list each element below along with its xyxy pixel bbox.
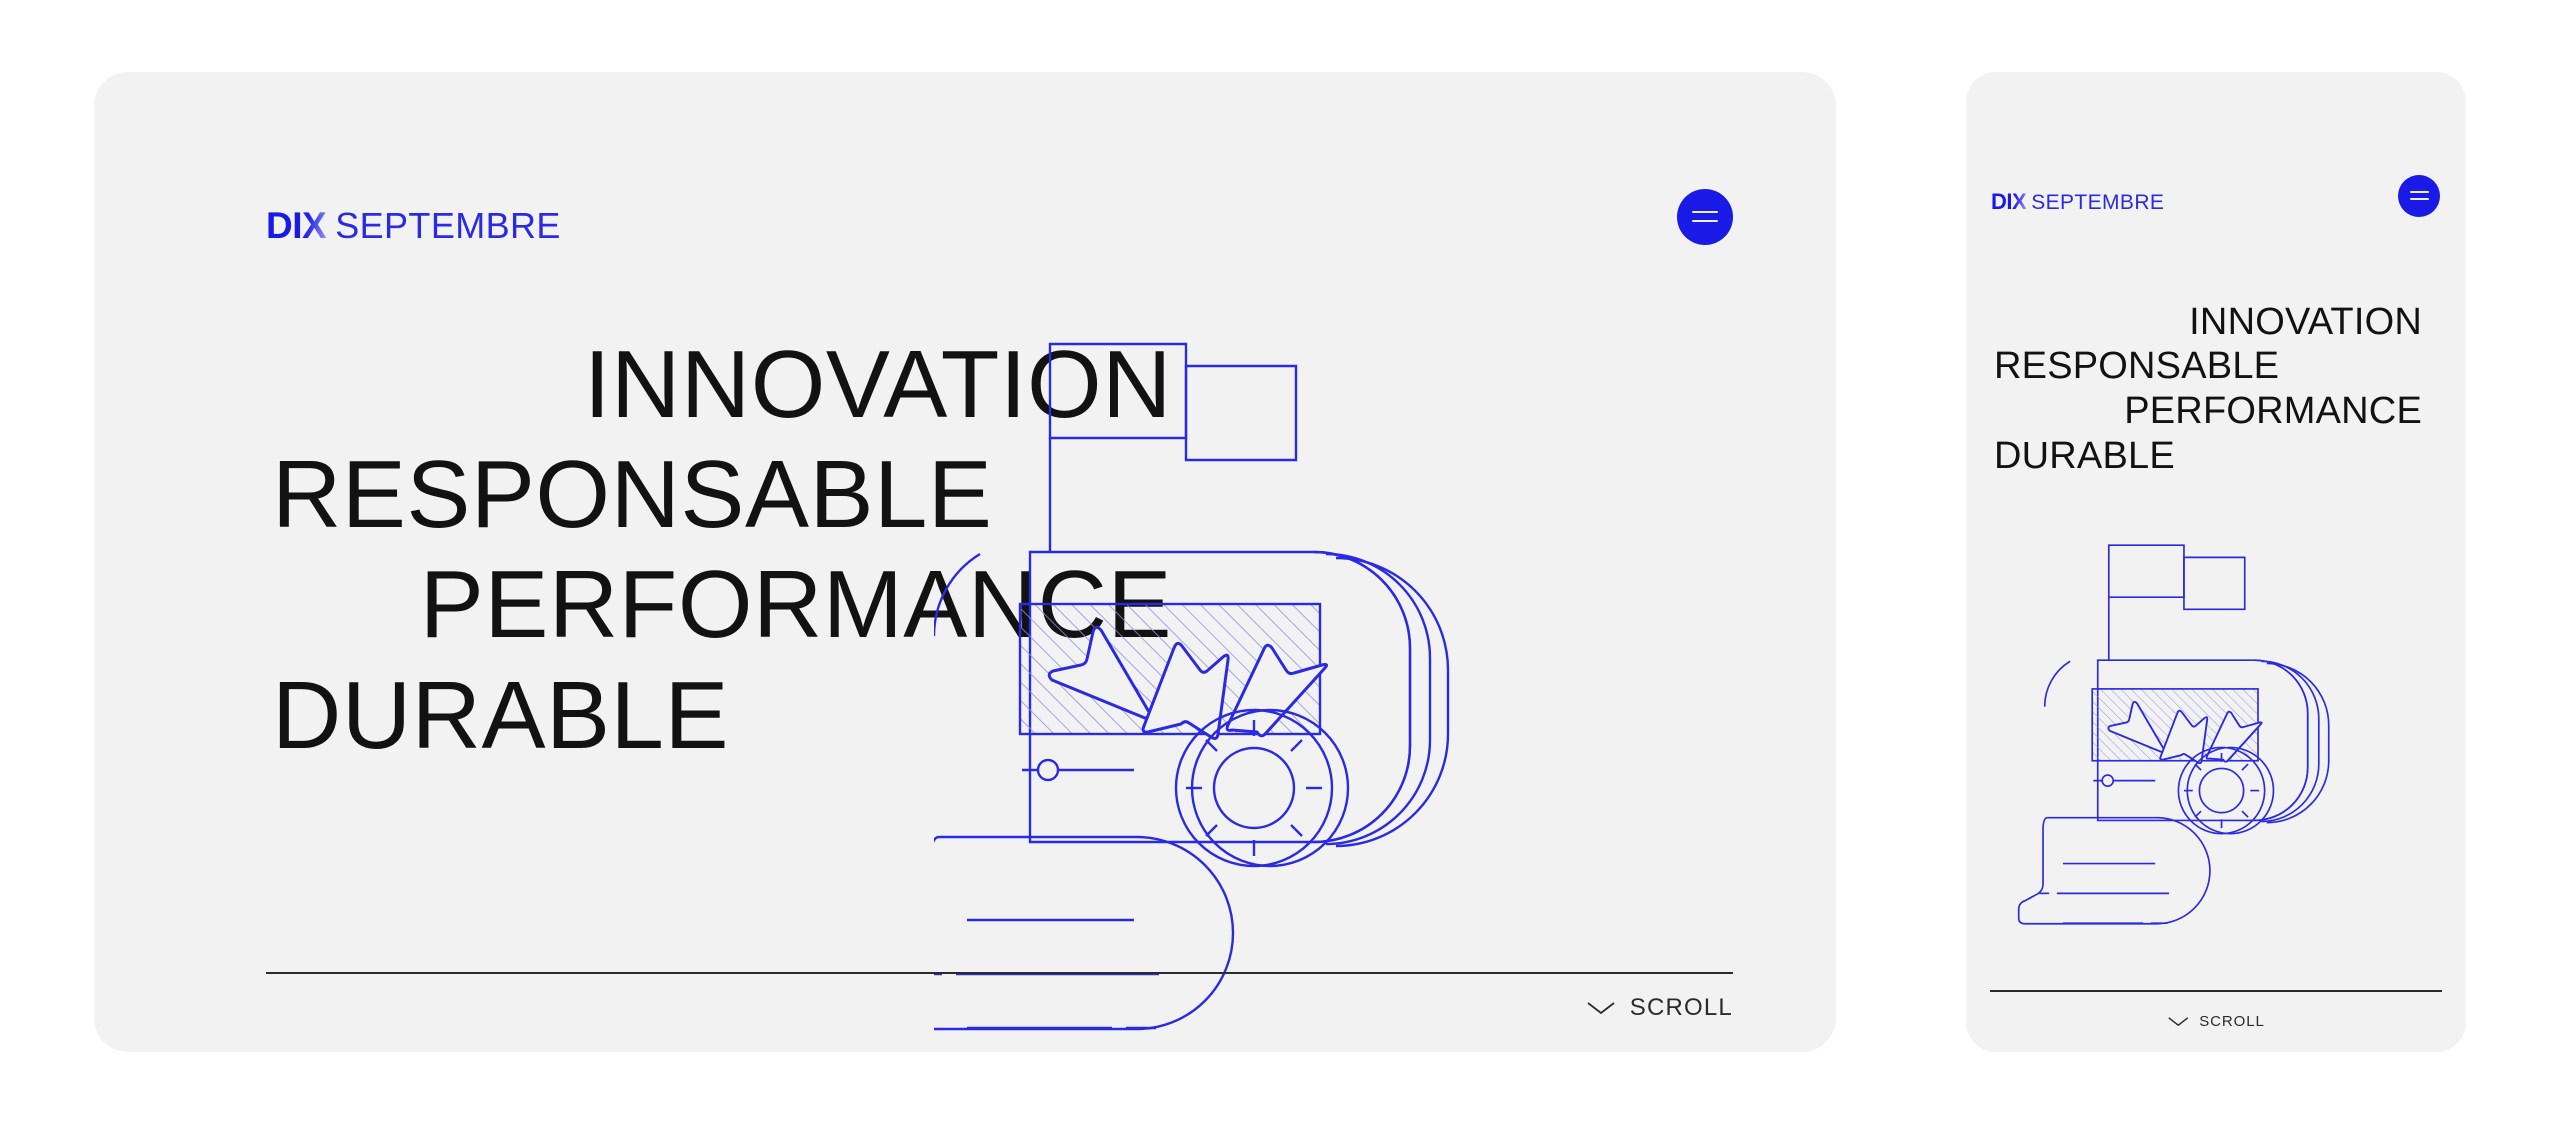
headline-line-3: PERFORMANCE [272, 550, 1172, 660]
brand-logo-x: X [302, 205, 326, 246]
speech-bubble [2019, 817, 2210, 923]
chevron-down-icon [1586, 1001, 1616, 1015]
footer-divider-mobile [1990, 990, 2442, 992]
headline-line-2: RESPONSABLE [272, 440, 1172, 550]
speech-bubble-lines [2039, 863, 2169, 923]
page-headline-desktop: INNOVATION RESPONSABLE PERFORMANCE DURAB… [272, 330, 1172, 772]
brand-logo-dix: DIX [1991, 189, 2026, 215]
slider-control [2093, 775, 2155, 786]
radio-device-illustration-mobile [1976, 522, 2456, 942]
scroll-label: SCROLL [2199, 1013, 2264, 1030]
flag-antenna-icon [2109, 545, 2245, 660]
headline-line-1: INNOVATION [272, 330, 1172, 440]
scroll-label: SCROLL [1630, 994, 1733, 1022]
headline-line-3: PERFORMANCE [1994, 389, 2422, 434]
speech-bubble [934, 837, 1233, 1029]
headline-line-1: INNOVATION [1994, 300, 2422, 345]
cursor-arrows-icon [2108, 701, 2261, 762]
brand-logo-septembre: SEPTEMBRE [2031, 191, 2164, 215]
footer-divider-desktop [266, 972, 1733, 974]
menu-toggle-button-mobile[interactable] [2398, 175, 2440, 217]
headline-line-4: DURABLE [1994, 434, 2422, 479]
hamburger-icon-line-2 [1692, 220, 1718, 222]
hatched-screen [2092, 688, 2258, 760]
screenshot-stage: DIX SEPTEMBRE INNOVATION RESPONSABLE PER… [0, 0, 2560, 1123]
hamburger-icon-line-1 [1692, 211, 1718, 213]
dial-knob [1176, 710, 1348, 866]
brand-logo-septembre: SEPTEMBRE [335, 205, 561, 247]
brand-logo-desktop[interactable]: DIX SEPTEMBRE [266, 205, 561, 247]
scroll-indicator-mobile[interactable]: SCROLL [2167, 1013, 2264, 1030]
brand-logo-dix: DIX [266, 205, 326, 247]
scroll-indicator-desktop[interactable]: SCROLL [1586, 994, 1733, 1022]
mobile-card: DIX SEPTEMBRE INNOVATION RESPONSABLE PER… [1966, 72, 2466, 1052]
hamburger-icon-line-1 [2410, 191, 2429, 193]
device-body [2045, 660, 2329, 822]
hamburger-icon-line-2 [2410, 198, 2429, 200]
brand-logo-mobile[interactable]: DIX SEPTEMBRE [1991, 189, 2164, 215]
speech-bubble-lines [934, 920, 1159, 1028]
headline-line-2: RESPONSABLE [1994, 344, 2422, 389]
headline-line-4: DURABLE [272, 661, 1172, 771]
chevron-down-icon [2167, 1016, 2189, 1027]
desktop-card: DIX SEPTEMBRE INNOVATION RESPONSABLE PER… [94, 72, 1836, 1052]
page-headline-mobile: INNOVATION RESPONSABLE PERFORMANCE DURAB… [1994, 300, 2422, 479]
dial-knob [2178, 747, 2273, 833]
brand-logo-x: X [2012, 189, 2026, 214]
menu-toggle-button-desktop[interactable] [1677, 189, 1733, 245]
